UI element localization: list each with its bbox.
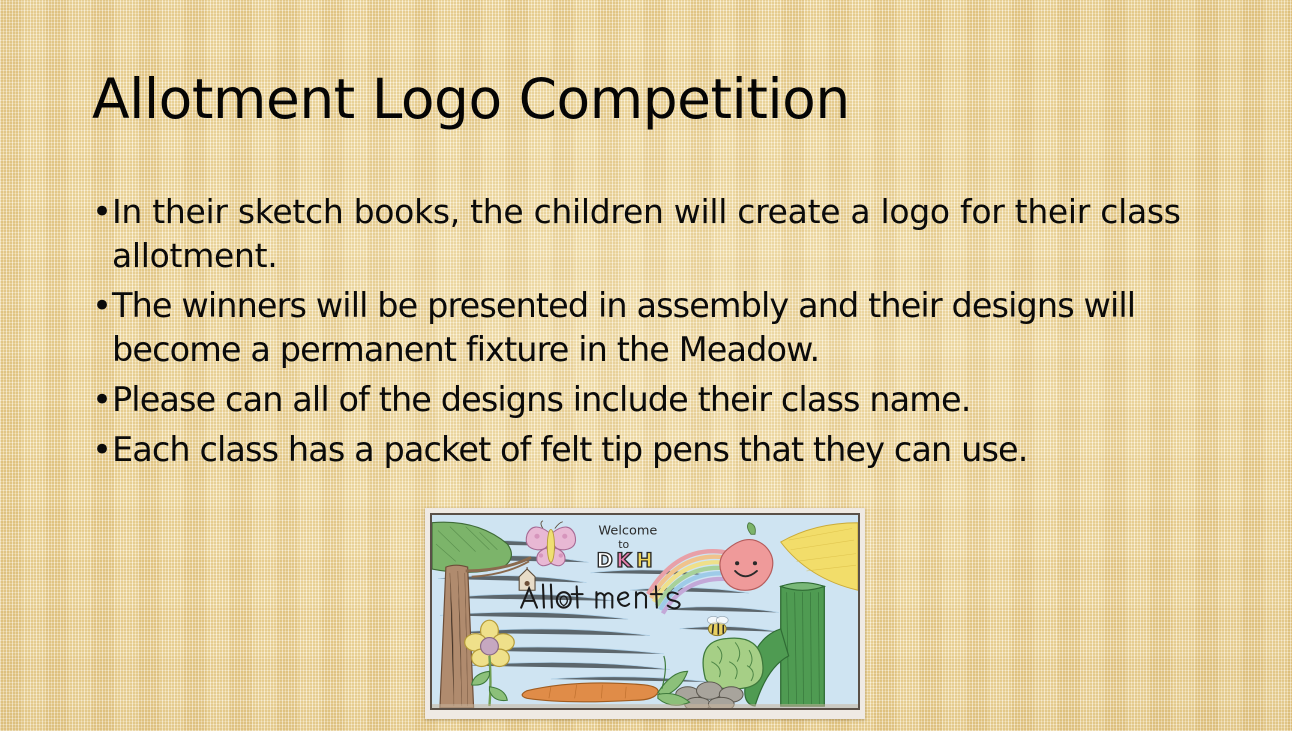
bullet-text-2: The winners will be presented in assembl…: [112, 284, 1222, 372]
letter-h: H: [636, 549, 653, 572]
bullet-text-1: In their sketch books, the children will…: [112, 190, 1222, 278]
welcome-word: Welcome: [598, 522, 657, 537]
bullet-text-4: Each class has a packet of felt tip pens…: [112, 428, 1222, 472]
bullet-marker-icon: •: [92, 428, 112, 472]
bullet-item-1: • In their sketch books, the children wi…: [92, 190, 1222, 278]
presentation-slide: Allotment Logo Competition • In their sk…: [0, 0, 1292, 731]
allotment-logo-drawing-photo: Welcome to D K H: [425, 508, 865, 719]
slide-bullet-list: • In their sketch books, the children wi…: [92, 190, 1222, 478]
childrens-allotment-drawing: Welcome to D K H: [432, 515, 858, 708]
bullet-item-4: • Each class has a packet of felt tip pe…: [92, 428, 1222, 472]
slide-title: Allotment Logo Competition: [92, 65, 1212, 133]
bee-drawing: [707, 616, 728, 635]
drawing-frame: Welcome to D K H: [430, 513, 860, 710]
bullet-marker-icon: •: [92, 190, 112, 234]
bullet-item-2: • The winners will be presented in assem…: [92, 284, 1222, 372]
cabbage-drawing: [703, 638, 763, 689]
letter-d: D: [596, 549, 612, 572]
bullet-item-3: • Please can all of the designs include …: [92, 378, 1222, 422]
letter-k: K: [616, 549, 632, 572]
bullet-marker-icon: •: [92, 284, 112, 328]
drawing-ground-strip: [432, 704, 858, 708]
bullet-text-3: Please can all of the designs include th…: [112, 378, 1222, 422]
school-initials: D K H: [596, 549, 652, 572]
bullet-marker-icon: •: [92, 378, 112, 422]
